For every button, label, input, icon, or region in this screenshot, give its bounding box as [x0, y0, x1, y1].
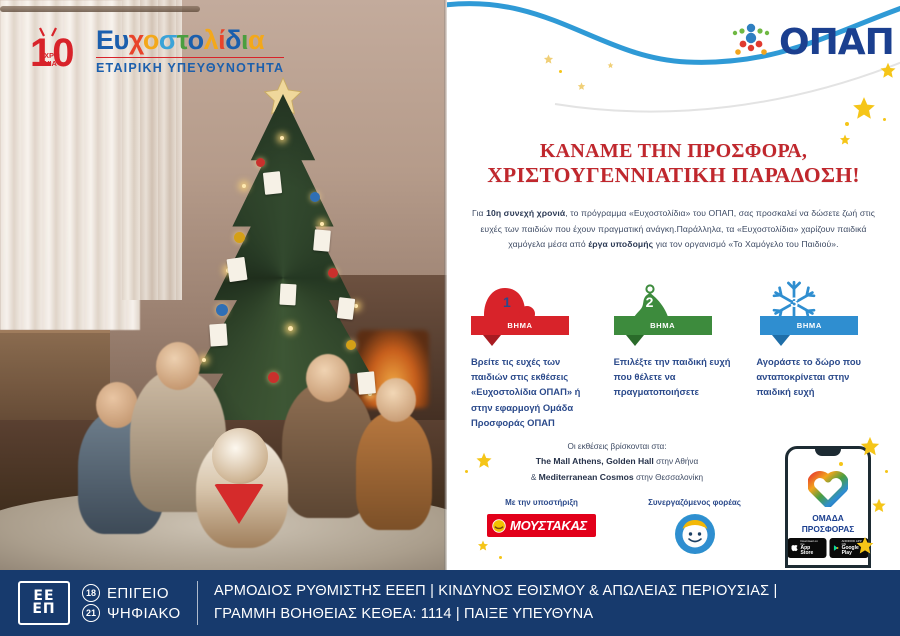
sponsors-section: Με την υποστήριξη ΜΟΥΣΤΑΚΑΣ Συνεργαζόμεν… [473, 498, 763, 554]
body-line1-post: , το πρόγραμμα «Ευχοστολίδια» του ΟΠΑΠ, … [565, 208, 857, 218]
support-title: Με την υποστήριξη [473, 498, 610, 507]
tree-bauble [234, 232, 245, 243]
tree-light [354, 304, 358, 308]
anniversary-10-years-icon: 10 ΧΡΟ ΝΙΑ [30, 24, 88, 78]
tree-bauble [256, 158, 265, 167]
step-item-1: 1 ΒΗΜΑ Βρείτε τις ευχές των παιδιών στις… [471, 284, 596, 430]
decorative-dot [845, 122, 849, 126]
tree-light [288, 326, 293, 331]
family-christmas-photo [0, 0, 447, 570]
campaign-logo-letter-1: υ [114, 25, 129, 55]
family-member-son-head [376, 378, 416, 422]
decorative-star-icon [855, 536, 875, 556]
decorative-dot [885, 470, 888, 473]
content-panel: ΟΠΑΠ ΚΑΝΑΜΕ ΤΗΝ ΠΡΟΣΦΟΡΑ, ΧΡΙΣΤΟΥΓΕΝΝΙΑΤ… [447, 0, 900, 570]
step-1-icon-group: 1 ΒΗΜΑ [471, 284, 596, 336]
page-title: ΚΑΝΑΜΕ ΤΗΝ ΠΡΟΣΦΟΡΑ, ΧΡΙΣΤΟΥΓΕΝΝΙΑΤΙΚΗ Π… [467, 140, 880, 188]
decorative-dot [559, 70, 562, 73]
wish-card [337, 297, 355, 320]
decorative-dot [883, 118, 886, 121]
app-title: ΟΜΑΔΑ ΠΡΟΣΦΟΡΑΣ [788, 513, 868, 535]
phone-notch [815, 449, 841, 456]
locations-line2-post: στην Θεσσαλονίκη [634, 473, 703, 482]
decorative-star-icon [543, 54, 554, 65]
app-store-badge[interactable]: Download on the App Store [788, 538, 827, 558]
age-row-terrestrial: 18 ΕΠΙΓΕΙΟ [82, 584, 181, 602]
age-18-badge: 18 [82, 584, 100, 602]
step-item-3: 3 ΒΗΜΑ Αγοράστε το δώρο που ανταποκρίνετ… [756, 284, 881, 430]
tree-bauble [310, 192, 320, 202]
campaign-logo-letter-4: σ [159, 25, 177, 55]
headline-line-1: ΚΑΝΑΜΕ ΤΗΝ ΠΡΟΣΦΟΡΑ, [467, 140, 880, 163]
tree-light [242, 184, 246, 188]
decorative-dot [465, 470, 468, 473]
moustakas-wordmark: ΜΟΥΣΤΑΚΑΣ [510, 518, 587, 533]
app-store-badge-large: App Store [800, 546, 822, 556]
body-line3-post: για τον οργανισμό «Το Χαμόγελο του Παιδι… [653, 239, 838, 249]
poster-root: 10 ΧΡΟ ΝΙΑ Ευχοστολίδια ΕΤΑΙΡΙΚΗ ΥΠΕΥΘΥΝ… [0, 0, 900, 636]
campaign-logo-letter-11: α [248, 25, 264, 55]
wish-card [313, 229, 331, 251]
tree-light [320, 222, 324, 226]
decorative-star-icon [577, 82, 586, 91]
wish-card [279, 284, 296, 306]
campaign-logo-wordmark: Ευχοστολίδια [96, 27, 284, 54]
step-1-badge: ΒΗΜΑ [471, 316, 569, 335]
step-1-text: Βρείτε τις ευχές των παιδιών στις εκθέσε… [471, 354, 596, 430]
wish-card [226, 257, 247, 282]
locations-intro: Οι εκθέσεις βρίσκονται στα: [477, 440, 757, 454]
eeep-line-2: ΕΠ [32, 603, 55, 616]
decorative-star-icon [851, 96, 877, 122]
partner-title: Συνεργαζόμενος φορέας [626, 498, 763, 507]
svg-text:ΝΙΑ: ΝΙΑ [44, 59, 58, 68]
age-18-label: ΕΠΙΓΕΙΟ [107, 585, 169, 602]
decorative-dot [839, 462, 843, 466]
body-line3-pre: χαμόγελα μέσα από [508, 239, 588, 249]
family-member-father-head [156, 342, 200, 390]
smile-of-the-child-logo [675, 514, 715, 554]
locations-line2-pre: & [531, 473, 539, 482]
step-2-number: 2 [646, 294, 654, 310]
decorative-star-icon [607, 62, 614, 69]
step-3-badge: ΒΗΜΑ [760, 316, 858, 335]
decorative-star-icon [475, 452, 493, 470]
step-2-badge: ΒΗΜΑ [614, 316, 712, 335]
wish-card [357, 371, 376, 394]
app-title-line-2: ΠΡΟΣΦΟΡΑΣ [788, 524, 868, 535]
age-21-badge: 21 [82, 604, 100, 622]
body-line1-bold: 10η συνεχή χρονιά [486, 208, 565, 218]
play-icon [834, 544, 840, 552]
family-member-son [356, 412, 432, 530]
moustakas-emblem-icon [492, 519, 506, 533]
curtain-rod [0, 6, 200, 12]
tree-bauble [346, 340, 356, 350]
legal-line-2: ΓΡΑΜΜΗ ΒΟΗΘΕΙΑΣ ΚΕΘΕΑ: 1114 | ΠΑΙΞΕ ΥΠΕΥ… [214, 603, 777, 626]
locations-line2-bold: Mediterranean Cosmos [539, 472, 634, 482]
apple-icon [792, 544, 798, 552]
age-21-label: ΨΗΦΙΑΚΟ [107, 605, 181, 622]
exhibition-locations: Οι εκθέσεις βρίσκονται στα: The Mall Ath… [477, 440, 757, 485]
campaign-logo-letter-10: ι [241, 25, 248, 55]
opap-figure-icon [729, 22, 773, 64]
campaign-logo: 10 ΧΡΟ ΝΙΑ Ευχοστολίδια ΕΤΑΙΡΙΚΗ ΥΠΕΥΘΥΝ… [30, 24, 284, 78]
wish-card [263, 171, 282, 195]
rainbow-heart-icon [808, 471, 848, 507]
locations-line-2: & Mediterranean Cosmos στην Θεσσαλονίκη [477, 470, 757, 485]
opap-wordmark: ΟΠΑΠ [779, 25, 894, 61]
decorative-star-icon [839, 134, 851, 146]
eeep-regulator-logo: ΕΕ ΕΠ [18, 581, 70, 625]
locations-line1-post: στην Αθήνα [654, 457, 698, 466]
family-member-mother-head [306, 354, 350, 402]
decorative-star-icon [879, 62, 897, 80]
app-title-line-1: ΟΜΑΔΑ [788, 513, 868, 524]
campaign-logo-letter-6: ο [188, 25, 204, 55]
step-2-text: Επιλέξτε την παιδική ευχή που θέλετε να … [614, 354, 739, 400]
campaign-logo-letter-7: λ [204, 25, 219, 55]
campaign-logo-letter-0: Ε [96, 25, 114, 55]
step-3-icon-group: 3 ΒΗΜΑ [756, 284, 881, 336]
wish-card [209, 323, 227, 346]
step-item-2: 2 ΒΗΜΑ Επιλέξτε την παιδική ευχή που θέλ… [614, 284, 739, 430]
intro-paragraph: Για 10η συνεχή χρονιά, το πρόγραμμα «Ευχ… [465, 206, 882, 253]
moustakas-logo: ΜΟΥΣΤΑΚΑΣ [487, 514, 596, 537]
smiling-child-face-icon [675, 514, 715, 554]
body-line1-pre: Για [472, 208, 486, 218]
decorative-star-icon [871, 498, 887, 514]
campaign-logo-letter-5: τ [177, 25, 188, 55]
tree-light [280, 136, 284, 140]
tree-light [202, 358, 206, 362]
footer-divider [197, 581, 199, 625]
decorative-dot [499, 556, 502, 559]
legal-line-1: ΑΡΜΟΔΙΟΣ ΡΥΘΜΙΣΤΗΣ ΕΕΕΠ | ΚΙΝΔΥΝΟΣ ΕΘΙΣΜ… [214, 580, 777, 603]
campaign-logo-letter-3: ο [143, 25, 159, 55]
campaign-logo-tagline: ΕΤΑΙΡΙΚΗ ΥΠΕΥΘΥΝΟΤΗΤΑ [96, 61, 284, 75]
legal-footer: ΕΕ ΕΠ 18 ΕΠΙΓΕΙΟ 21 ΨΗΦΙΑΚΟ ΑΡΜΟΔΙΟΣ ΡΥΘ… [0, 570, 900, 636]
step-1-number: 1 [503, 294, 511, 310]
legal-text: ΑΡΜΟΔΙΟΣ ΡΥΘΜΙΣΤΗΣ ΕΕΕΠ | ΚΙΝΔΥΝΟΣ ΕΘΙΣΜ… [214, 580, 777, 625]
age-row-digital: 21 ΨΗΦΙΑΚΟ [82, 604, 181, 622]
step-2-icon-group: 2 ΒΗΜΑ [614, 284, 739, 336]
body-line3-bold: έργα υποδομής [588, 239, 653, 249]
age-restrictions: 18 ΕΠΙΓΕΙΟ 21 ΨΗΦΙΑΚΟ [82, 582, 181, 624]
locations-line1-bold: The Mall Athens, Golden Hall [536, 456, 654, 466]
tree-bauble [216, 304, 228, 316]
partner-column: Συνεργαζόμενος φορέας [626, 498, 763, 554]
tree-bauble [268, 372, 279, 383]
decorative-star-icon [859, 436, 881, 458]
decorative-star-icon [477, 540, 489, 552]
tree-bauble [328, 268, 338, 278]
step-3-text: Αγοράστε το δώρο που ανταποκρίνεται στην… [756, 354, 881, 400]
steps-list: 1 ΒΗΜΑ Βρείτε τις ευχές των παιδιών στις… [471, 284, 881, 430]
campaign-logo-letter-9: δ [225, 25, 241, 55]
family-dog-head [212, 428, 268, 484]
opap-logo: ΟΠΑΠ [729, 22, 894, 64]
step-3-number: 3 [790, 294, 798, 310]
headline-line-2: ΧΡΙΣΤΟΥΓΕΝΝΙΑΤΙΚΗ ΠΑΡΑΔΟΣΗ! [467, 163, 880, 188]
campaign-logo-letter-2: χ [129, 25, 143, 55]
support-column: Με την υποστήριξη ΜΟΥΣΤΑΚΑΣ [473, 498, 610, 554]
locations-line-1: The Mall Athens, Golden Hall στην Αθήνα [477, 454, 757, 469]
